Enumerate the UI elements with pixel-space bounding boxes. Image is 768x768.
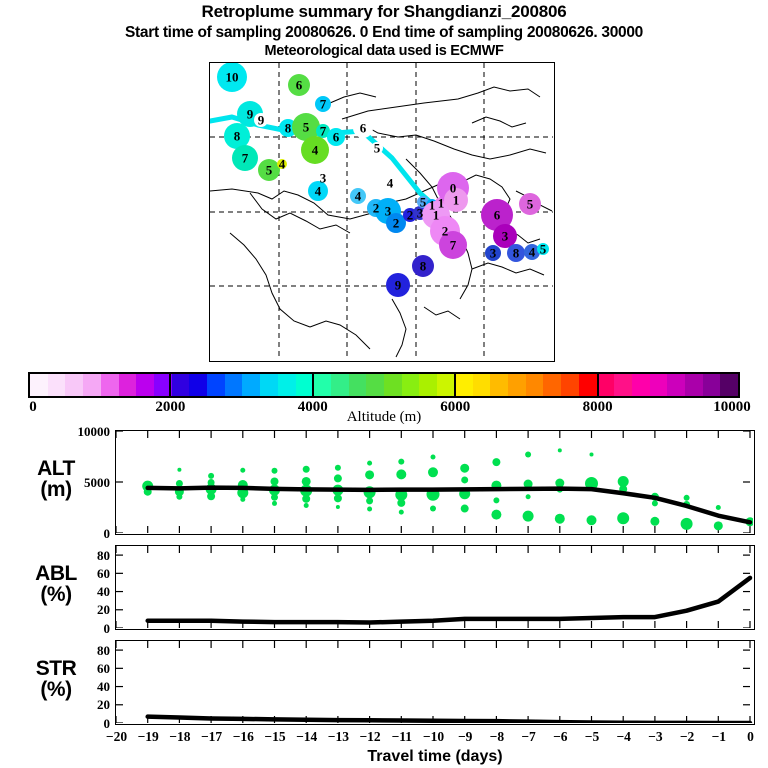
travel-time-tick-label: −20: [106, 729, 127, 745]
colorbar-swatch: [579, 374, 597, 396]
altitude-scatter-point: [398, 459, 404, 465]
colorbar-separator: [597, 372, 599, 398]
abl-y-tick-label: 0: [60, 621, 110, 637]
altitude-scatter-point: [525, 451, 531, 457]
colorbar-title: Altitude (m): [0, 409, 768, 426]
travel-time-tick-label: −10: [423, 729, 444, 745]
colorbar-swatch: [119, 374, 137, 396]
travel-time-tick-label: −19: [138, 729, 159, 745]
alt-y-tick-label: 0: [60, 526, 110, 542]
plume-blob: [412, 255, 434, 277]
travel-time-tick-label: −15: [264, 729, 285, 745]
colorbar-swatch: [30, 374, 48, 396]
altitude-scatter-point: [428, 467, 438, 477]
travel-time-tick-label: −14: [296, 729, 317, 745]
str-y-tick-label: 20: [60, 697, 110, 713]
travel-time-tick-label: −17: [201, 729, 222, 745]
str-panel[interactable]: [115, 640, 755, 725]
alt-y-tick-label: 5000: [60, 475, 110, 491]
altitude-scatter-point: [493, 497, 499, 503]
colorbar-swatch: [402, 374, 420, 396]
altitude-scatter-point: [460, 464, 469, 473]
retroplume-map[interactable]: 1067998857664754534442322351101127653384…: [209, 62, 555, 362]
alt-y-tick-label: 10000: [60, 424, 110, 440]
altitude-scatter-point: [177, 468, 181, 472]
colorbar-swatch: [278, 374, 296, 396]
colorbar-swatch: [526, 374, 544, 396]
altitude-scatter-point: [555, 514, 565, 524]
colorbar-swatch: [242, 374, 260, 396]
travel-time-tick-label: −12: [359, 729, 380, 745]
colorbar-swatch: [189, 374, 207, 396]
altitude-scatter-point: [430, 506, 436, 512]
colorbar-swatch: [614, 374, 632, 396]
travel-time-tick-label: 0: [747, 729, 754, 745]
colorbar-swatch: [172, 374, 190, 396]
altitude-scatter-point: [272, 468, 278, 474]
str-y-tick-label: 60: [60, 661, 110, 677]
altitude-scatter-point: [302, 495, 310, 503]
altitude-scatter-point: [303, 466, 310, 473]
altitude-scatter-point: [399, 510, 404, 515]
altitude-scatter-point: [176, 494, 182, 500]
plume-blob: [383, 176, 397, 190]
plume-blob: [277, 159, 287, 169]
travel-time-tick-label: −5: [585, 729, 599, 745]
colorbar-swatch: [366, 374, 384, 396]
altitude-colorbar[interactable]: [28, 372, 740, 398]
travel-time-tick-label: −13: [328, 729, 349, 745]
colorbar-swatch: [490, 374, 508, 396]
travel-time-tick-label: −1: [712, 729, 726, 745]
altitude-scatter-point: [336, 505, 340, 509]
colorbar-swatch: [207, 374, 225, 396]
plume-blob: [254, 113, 268, 127]
colorbar-swatch: [720, 374, 738, 396]
altitude-scatter-point: [396, 469, 406, 479]
colorbar-swatch: [455, 374, 473, 396]
altitude-scatter-point: [367, 461, 372, 466]
abl-panel[interactable]: [115, 545, 755, 630]
colorbar-swatch: [83, 374, 101, 396]
colorbar-swatch: [632, 374, 650, 396]
travel-time-tick-label: −18: [169, 729, 190, 745]
altitude-scatter-point: [335, 465, 341, 471]
altitude-scatter-point: [366, 497, 373, 504]
colorbar-swatch: [561, 374, 579, 396]
colorbar-swatch: [260, 374, 278, 396]
colorbar-swatch: [349, 374, 367, 396]
colorbar-swatch: [437, 374, 455, 396]
sampling-period-text: Start time of sampling 20080626. 0 End t…: [0, 24, 768, 42]
colorbar-swatch: [136, 374, 154, 396]
altitude-scatter-point: [714, 521, 723, 530]
altitude-scatter-point: [716, 505, 721, 510]
page-title: Retroplume summary for Shangdianzi_20080…: [0, 2, 768, 22]
plume-blob: [519, 193, 541, 215]
colorbar-swatch: [473, 374, 491, 396]
altitude-scatter-point: [367, 507, 372, 512]
travel-time-tick-label: −2: [680, 729, 694, 745]
altitude-scatter-point: [461, 505, 469, 513]
altitude-scatter-point: [652, 500, 658, 506]
colorbar-swatch: [685, 374, 703, 396]
plume-blob: [288, 74, 310, 96]
altitude-scatter-point: [271, 477, 279, 485]
travel-time-tick-label: −9: [458, 729, 472, 745]
altitude-scatter-point: [650, 517, 659, 526]
colorbar-swatch: [296, 374, 314, 396]
altitude-scatter-point: [491, 510, 501, 520]
abl-y-tick-label: 60: [60, 566, 110, 582]
altitude-scatter-point: [208, 473, 214, 479]
str-y-tick-label: 80: [60, 643, 110, 659]
str-plot: [116, 641, 753, 723]
mean-line: [148, 578, 750, 623]
altitude-scatter-point: [334, 494, 342, 502]
colorbar-swatch: [225, 374, 243, 396]
colorbar-separator: [454, 372, 456, 398]
x-axis-title: Travel time (days): [115, 748, 755, 766]
altitude-scatter-point: [526, 494, 531, 499]
colorbar-separator: [169, 372, 171, 398]
altitude-scatter-point: [590, 452, 594, 456]
altitude-scatter-point: [240, 468, 245, 473]
plume-blob: [485, 245, 501, 261]
colorbar-swatch: [384, 374, 402, 396]
colorbar-swatch: [101, 374, 119, 396]
abl-plot: [116, 546, 753, 628]
plume-blob: [386, 273, 410, 297]
str-y-tick-label: 0: [60, 716, 110, 732]
altitude-scatter-point: [681, 518, 693, 530]
colorbar-swatch: [65, 374, 83, 396]
plume-blob: [353, 118, 373, 138]
altitude-scatter-point: [555, 479, 564, 488]
altitude-scatter-point: [302, 477, 311, 486]
colorbar-swatch: [543, 374, 561, 396]
altitude-scatter-point: [334, 474, 342, 482]
colorbar-swatch: [667, 374, 685, 396]
colorbar-swatch: [48, 374, 66, 396]
plume-blob: [308, 181, 328, 201]
colorbar-swatch: [313, 374, 331, 396]
plume-blob: [537, 243, 549, 255]
travel-time-tick-label: −16: [233, 729, 254, 745]
abl-y-tick-label: 80: [60, 548, 110, 564]
travel-time-tick-label: −7: [521, 729, 535, 745]
altitude-scatter-point: [617, 512, 629, 524]
travel-time-tick-label: −6: [553, 729, 567, 745]
title-block: Retroplume summary for Shangdianzi_20080…: [0, 2, 768, 59]
travel-time-tick-label: −4: [616, 729, 630, 745]
altitude-scatter-point: [176, 480, 183, 487]
altitude-scatter-point: [523, 511, 534, 522]
altitude-scatter-point: [684, 495, 690, 501]
plume-blob: [232, 145, 258, 171]
altitude-scatter-point: [207, 492, 215, 500]
colorbar-swatch: [703, 374, 721, 396]
plume-blob: [301, 136, 329, 164]
altitude-scatter-point: [271, 494, 278, 501]
altitude-scatter-point: [461, 476, 468, 483]
plume-blob: [315, 96, 331, 112]
altitude-scatter-point: [492, 458, 500, 466]
meteorology-source-text: Meteorological data used is ECMWF: [0, 43, 768, 59]
altitude-panel[interactable]: [115, 430, 755, 535]
altitude-scatter-point: [272, 501, 277, 506]
mean-line: [148, 717, 750, 723]
altitude-scatter-point: [558, 448, 562, 452]
altitude-plot: [116, 431, 753, 533]
colorbar-swatch: [419, 374, 437, 396]
colorbar-swatch: [331, 374, 349, 396]
travel-time-tick-label: −11: [392, 729, 412, 745]
plume-blob: [507, 244, 525, 262]
abl-y-tick-label: 40: [60, 584, 110, 600]
altitude-scatter-point: [587, 515, 597, 525]
abl-y-tick-label: 20: [60, 602, 110, 618]
travel-time-tick-label: −8: [490, 729, 504, 745]
colorbar-swatch: [508, 374, 526, 396]
plume-blob: [371, 142, 383, 154]
travel-time-tick-label: −3: [648, 729, 662, 745]
colorbar-swatch: [597, 374, 615, 396]
plume-blob: [350, 188, 366, 204]
altitude-scatter-point: [304, 503, 309, 508]
plume-blob: [217, 62, 247, 92]
altitude-scatter-point: [397, 499, 405, 507]
altitude-scatter-point: [365, 470, 374, 479]
plume-blob: [327, 128, 345, 146]
altitude-scatter-point: [240, 497, 245, 502]
str-y-tick-label: 40: [60, 679, 110, 695]
altitude-scatter-point: [431, 455, 436, 460]
plume-blob: [439, 231, 467, 259]
colorbar-swatch: [650, 374, 668, 396]
colorbar-separator: [312, 372, 314, 398]
